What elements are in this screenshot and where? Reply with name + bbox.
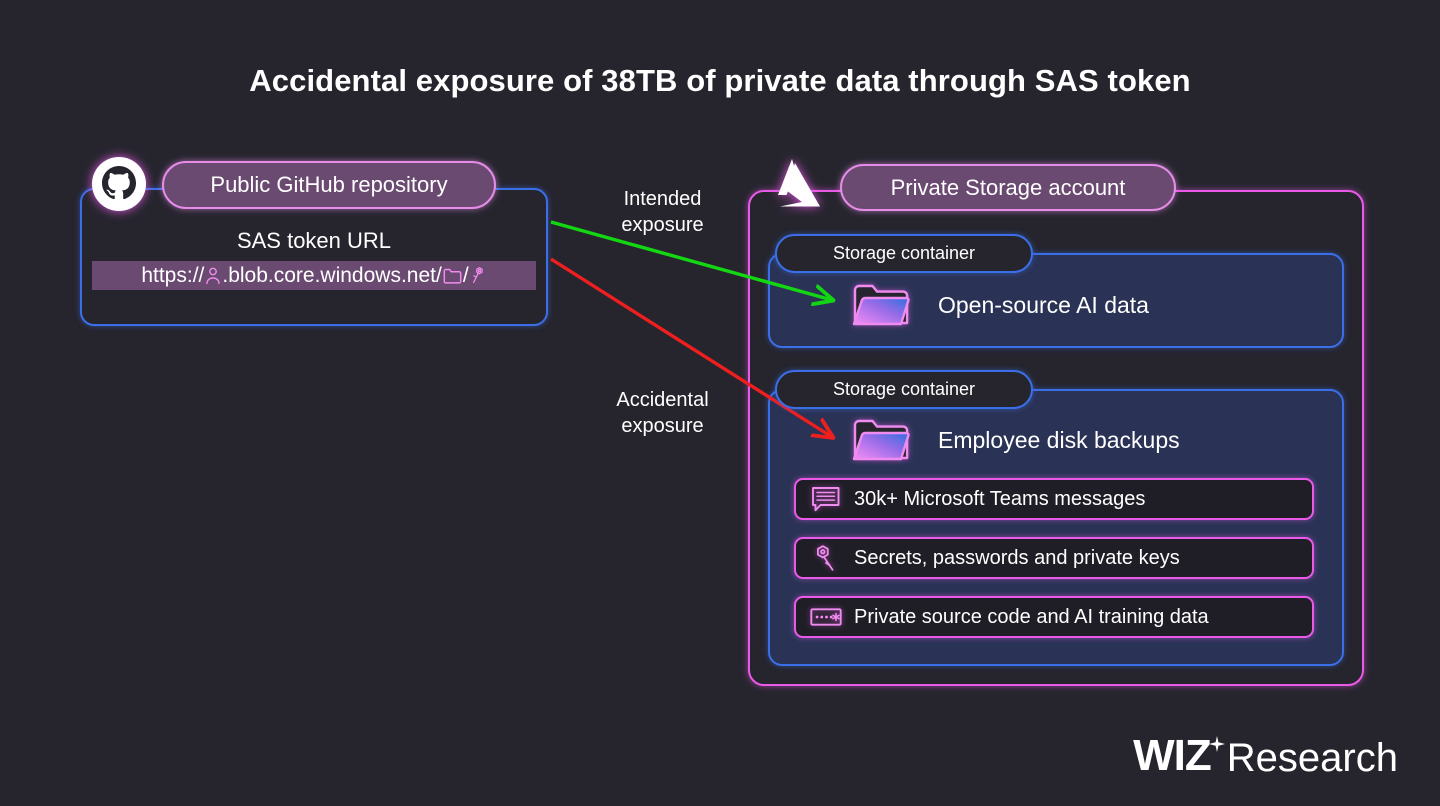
github-repository-pill[interactable]: Public GitHub repository xyxy=(162,161,496,209)
open-source-ai-data-row: Open-source AI data xyxy=(852,283,1149,327)
private-storage-account-label: Private Storage account xyxy=(891,175,1126,201)
wiz-wordmark: WIZ xyxy=(1133,734,1211,778)
folder-icon xyxy=(852,283,910,327)
person-icon xyxy=(205,266,221,285)
list-item-label: 30k+ Microsoft Teams messages xyxy=(854,488,1145,511)
key-icon xyxy=(470,266,486,285)
open-source-ai-data-label: Open-source AI data xyxy=(938,292,1149,319)
list-item[interactable]: Private source code and AI training data xyxy=(794,596,1314,638)
sas-token-url-value[interactable]: https:// .blob.core.windows.net/ / xyxy=(92,261,536,290)
password-field-icon xyxy=(808,603,844,631)
list-item[interactable]: 30k+ Microsoft Teams messages xyxy=(794,478,1314,520)
accidental-exposure-label: Accidental exposure xyxy=(575,388,750,439)
employee-disk-backups-row: Employee disk backups xyxy=(852,418,1180,462)
page-title: Accidental exposure of 38TB of private d… xyxy=(0,63,1440,99)
url-prefix: https:// xyxy=(141,264,204,288)
storage-container-2-label: Storage container xyxy=(833,379,975,400)
github-repository-label: Public GitHub repository xyxy=(210,172,447,198)
list-item[interactable]: Secrets, passwords and private keys xyxy=(794,537,1314,579)
storage-container-1-label: Storage container xyxy=(833,243,975,264)
accidental-exposure-label-line1: Accidental xyxy=(575,388,750,414)
sparkle-icon xyxy=(1209,736,1225,752)
azure-icon xyxy=(762,157,824,212)
intended-exposure-label-line2: exposure xyxy=(575,213,750,239)
storage-container-1-pill[interactable]: Storage container xyxy=(775,234,1033,273)
url-domain: .blob.core.windows.net/ xyxy=(222,264,441,288)
storage-container-2-pill[interactable]: Storage container xyxy=(775,370,1033,409)
chat-bubble-icon xyxy=(808,485,844,513)
research-wordmark: Research xyxy=(1227,738,1398,778)
folder-icon xyxy=(443,268,462,284)
diagram-canvas: Accidental exposure of 38TB of private d… xyxy=(0,0,1440,806)
list-item-label: Private source code and AI training data xyxy=(854,606,1209,629)
wiz-research-logo: WIZ Research xyxy=(1133,734,1398,778)
intended-exposure-label: Intended exposure xyxy=(575,187,750,238)
private-storage-account-pill[interactable]: Private Storage account xyxy=(840,164,1176,211)
accidental-exposure-label-line2: exposure xyxy=(575,414,750,440)
sas-token-url-label: SAS token URL xyxy=(80,228,548,254)
url-separator: / xyxy=(463,264,469,288)
list-item-label: Secrets, passwords and private keys xyxy=(854,547,1180,570)
key-icon xyxy=(808,544,844,572)
github-icon xyxy=(90,155,148,213)
employee-disk-backups-label: Employee disk backups xyxy=(938,427,1180,454)
intended-exposure-label-line1: Intended xyxy=(575,187,750,213)
folder-icon xyxy=(852,418,910,462)
